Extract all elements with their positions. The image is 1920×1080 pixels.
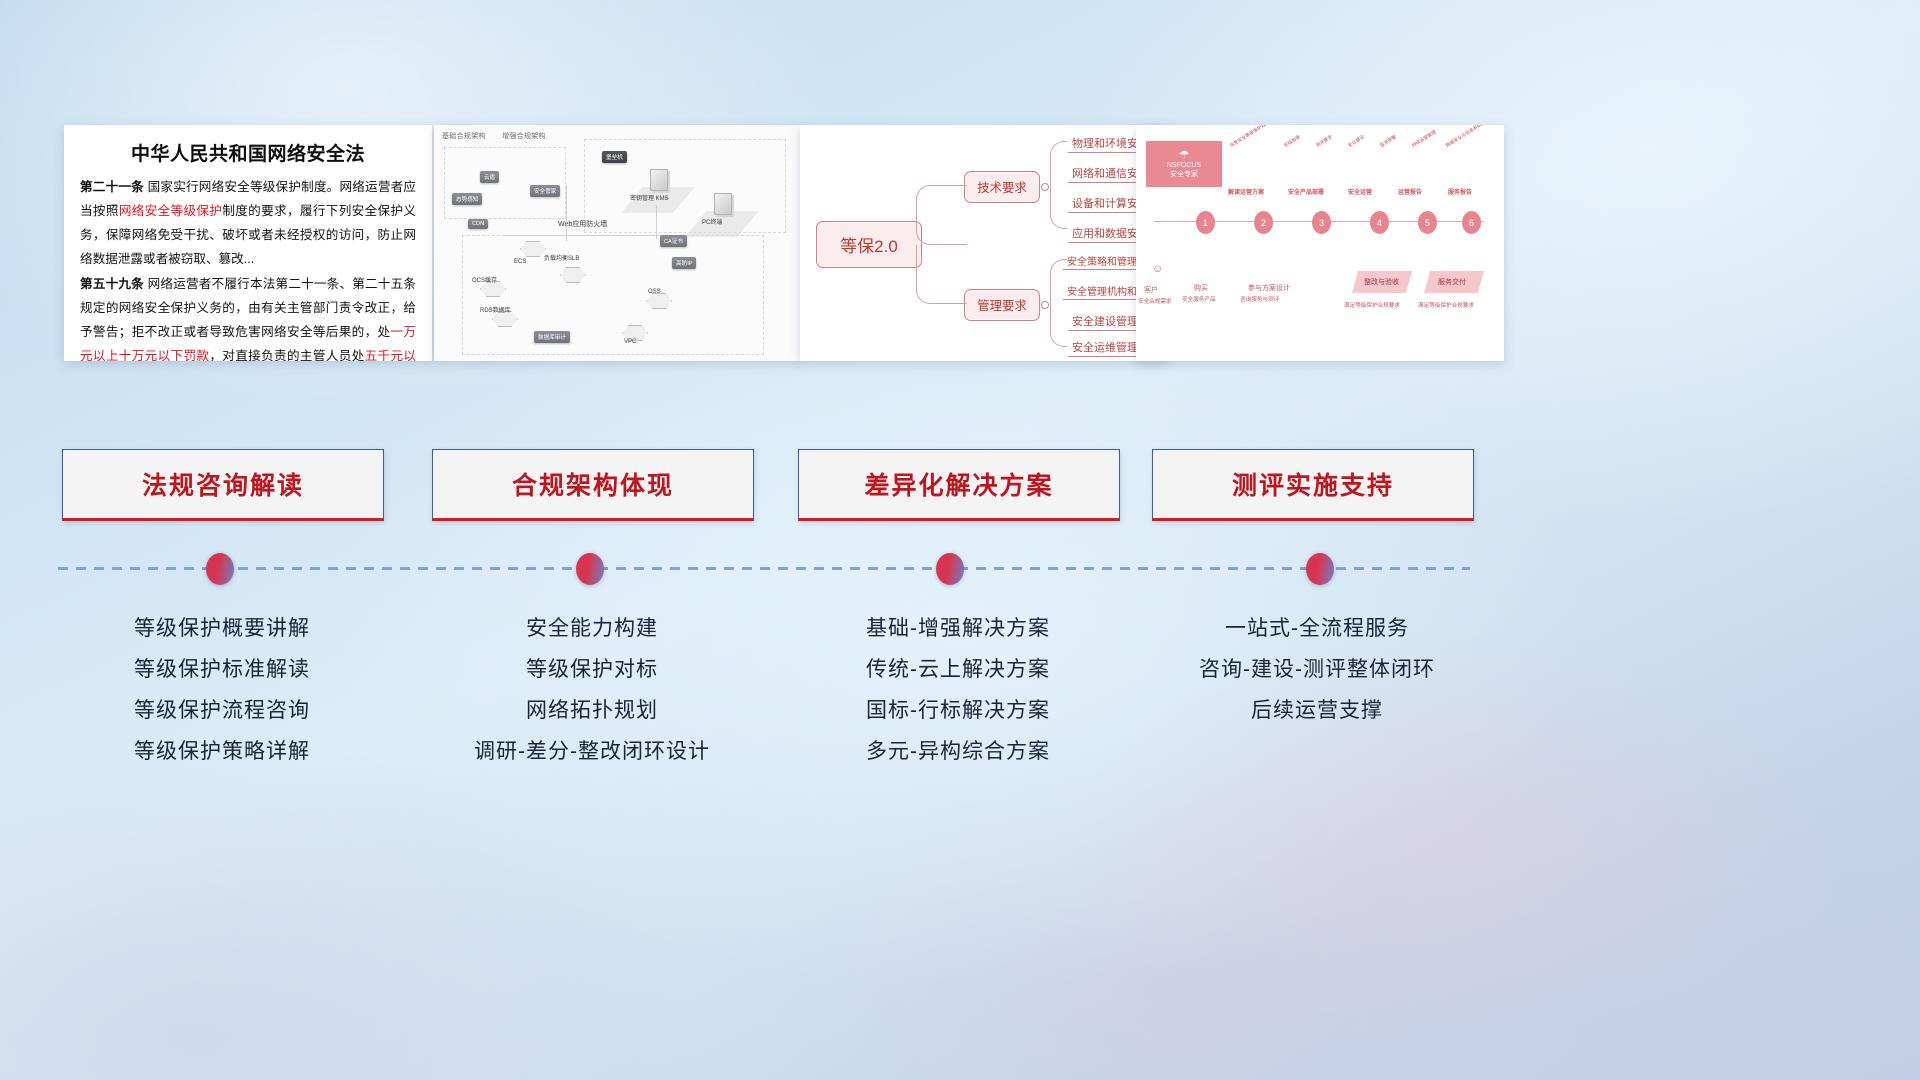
architecture-tabs: 基础合规架构 增强合规架构 xyxy=(442,131,560,141)
banner-evaluation-support[interactable]: 测评实施支持 xyxy=(1152,449,1474,521)
mindmap-collapse-dot-management[interactable] xyxy=(1041,301,1049,309)
law-article-21: 第二十一条 国家实行网络安全等级保护制度。网络运营者应当按照网络安全等级保护制度… xyxy=(80,175,416,271)
timeline-dot-3[interactable] xyxy=(936,553,964,585)
roadmap-bottom-sub-1: 咨询服务与测评 xyxy=(1240,295,1279,303)
arch-node-bastion: 堡垒机 xyxy=(602,151,627,163)
law-excerpt-card[interactable]: 中华人民共和国网络安全法 第二十一条 国家实行网络安全等级保护制度。网络运营者应… xyxy=(64,125,432,361)
list-item: 等级保护标准解读 xyxy=(62,649,382,690)
mindmap: 等保2.0 技术要求 管理要求 物理和环境安全 网络和通信安全 设备和计算安全 … xyxy=(800,125,1168,361)
list-item: 基础-增强解决方案 xyxy=(798,608,1118,649)
roadmap-step-1: 安全产品部署 xyxy=(1288,187,1324,196)
arch-node-cdn: CDN xyxy=(468,219,488,229)
timeline-dashed-line xyxy=(58,567,1470,570)
arch-node-situation: 安全管家 xyxy=(530,185,560,197)
roadmap-number-3: 3 xyxy=(1312,211,1331,234)
mindmap-leaf-ops: 安全运维管理 xyxy=(1068,339,1142,357)
article-59-label: 第五十九条 xyxy=(80,277,144,291)
customer-icon: ☺ xyxy=(1152,263,1163,275)
roadmap-tag-2: 测评要求 xyxy=(1315,134,1334,149)
list-item: 等级保护流程咨询 xyxy=(62,690,382,731)
list-item: 等级保护概要讲解 xyxy=(62,608,382,649)
list-item: 一站式-全流程服务 xyxy=(1152,608,1482,649)
mindmap-collapse-dot-technical[interactable] xyxy=(1041,183,1049,191)
arch-node-gaofangip: 高防IP xyxy=(672,257,696,269)
arch-node-yundun: 云盾 xyxy=(480,171,499,183)
arch-tab-basic[interactable]: 基础合规架构 xyxy=(442,133,486,140)
roadmap-bottom-right-sub-0: 满足等级保护合规要求 xyxy=(1344,301,1400,309)
arch-node-anquanguanjia: 态势感知 xyxy=(452,193,482,205)
roadmap-bottom-right-sub-1: 满足等级保护合规要求 xyxy=(1418,301,1474,309)
roadmap-number-5: 5 xyxy=(1418,211,1437,234)
list-item: 后续运营支撑 xyxy=(1152,690,1482,731)
brand-name: NSFOCUS xyxy=(1167,161,1201,170)
list-item: 咨询-建设-测评整体闭环 xyxy=(1152,649,1482,690)
roadmap-step-3: 运营报告 xyxy=(1398,187,1422,196)
roadmap-tag-0: 信息安全等级保护政策法规 xyxy=(1229,125,1279,149)
arch-label-rds: RDS数据库 xyxy=(480,305,511,314)
nsfocus-brand-badge: ☂ NSFOCUS 安全专家 xyxy=(1146,141,1222,187)
arch-label-ocs: OCS缓存 xyxy=(472,275,497,284)
roadmap-bottom-right-item-0: 整改与验收 xyxy=(1364,277,1399,287)
arch-label-slb: 负载均衡SLB xyxy=(544,253,579,262)
arch-label-pc: PC终端 xyxy=(702,217,722,226)
cloud-architecture-card[interactable]: 基础合规架构 增强合规架构 云盾 态势感知 安全管家 堡垒机 密钥管理 KMS … xyxy=(434,125,802,361)
arch-label-vpc: VPC xyxy=(624,339,636,345)
feature-list-column-3: 基础-增强解决方案 传统-云上解决方案 国标-行标解决方案 多元-异构综合方案 xyxy=(798,608,1118,772)
banner-differentiated-solution[interactable]: 差异化解决方案 xyxy=(798,449,1120,521)
nsfocus-roadmap-card[interactable]: ☂ NSFOCUS 安全专家 信息安全等级保护政策法规 定级指南 测评要求 安全… xyxy=(1136,125,1504,361)
mindmap-leaf-construction: 安全建设管理 xyxy=(1068,313,1142,331)
banner-title-2: 差异化解决方案 xyxy=(864,466,1053,502)
arch-label-oss: OSS xyxy=(648,289,661,295)
slide-background: 中华人民共和国网络安全法 第二十一条 国家实行网络安全等级保护制度。网络运营者应… xyxy=(0,0,1920,1080)
roadmap-step-0: 解读运营方案 xyxy=(1228,187,1264,196)
list-item: 等级保护策略详解 xyxy=(62,731,382,772)
brand-subtitle: 安全专家 xyxy=(1170,170,1198,179)
arch-node-db-audit: 数据库审计 xyxy=(534,331,570,343)
list-item: 网络拓扑规划 xyxy=(432,690,752,731)
card-row: 中华人民共和国网络安全法 第二十一条 国家实行网络安全等级保护制度。网络运营者应… xyxy=(0,125,1920,363)
mindmap-root-node: 等保2.0 xyxy=(816,221,922,268)
roadmap-tag-1: 定级指南 xyxy=(1283,134,1302,149)
timeline-dot-2[interactable] xyxy=(576,553,604,585)
brand-icon: ☂ xyxy=(1179,149,1190,161)
roadmap-tag-3: 安全建设 xyxy=(1347,134,1366,149)
law-text-body: 中华人民共和国网络安全法 第二十一条 国家实行网络安全等级保护制度。网络运营者应… xyxy=(64,125,432,361)
arch-tab-enhanced[interactable]: 增强合规架构 xyxy=(502,133,546,140)
article-59-text-b: ，对直接负责的主管人员处 xyxy=(209,349,364,361)
banner-compliance-architecture[interactable]: 合规架构体现 xyxy=(432,449,754,521)
roadmap-diagram: ☂ NSFOCUS 安全专家 信息安全等级保护政策法规 定级指南 测评要求 安全… xyxy=(1136,125,1504,361)
dengbao-mindmap-card[interactable]: 等保2.0 技术要求 管理要求 物理和环境安全 网络和通信安全 设备和计算安全 … xyxy=(800,125,1168,361)
mindmap-branch-management: 管理要求 xyxy=(964,289,1040,321)
roadmap-number-2: 2 xyxy=(1254,211,1273,234)
roadmap-bottom-item-0: 购买 xyxy=(1194,283,1208,293)
arch-label-ecs: ECS xyxy=(514,259,526,265)
banner-title-3: 测评实施支持 xyxy=(1232,466,1394,502)
timeline-dot-1[interactable] xyxy=(206,553,234,585)
roadmap-tag-5: 持续运营管理 xyxy=(1411,129,1438,149)
customer-sub: 安全合规需求 xyxy=(1138,297,1172,305)
roadmap-bottom-right-item-1: 服务交付 xyxy=(1438,277,1466,287)
architecture-diagram: 基础合规架构 增强合规架构 云盾 态势感知 安全管家 堡垒机 密钥管理 KMS … xyxy=(434,125,802,361)
list-item: 安全能力构建 xyxy=(432,608,752,649)
feature-list-column-2: 安全能力构建 等级保护对标 网络拓扑规划 调研-差分-整改闭环设计 xyxy=(432,608,752,772)
banner-title-1: 合规架构体现 xyxy=(512,466,674,502)
roadmap-number-1: 1 xyxy=(1196,211,1215,234)
feature-list-column-4: 一站式-全流程服务 咨询-建设-测评整体闭环 后续运营支撑 xyxy=(1152,608,1482,731)
roadmap-step-2: 安全运营 xyxy=(1348,187,1372,196)
arch-label-kms: 密钥管理 KMS xyxy=(630,193,669,202)
feature-list-column-1: 等级保护概要讲解 等级保护标准解读 等级保护流程咨询 等级保护策略详解 xyxy=(62,608,382,772)
list-item: 传统-云上解决方案 xyxy=(798,649,1118,690)
law-title: 中华人民共和国网络安全法 xyxy=(80,139,416,166)
banner-title-0: 法规咨询解读 xyxy=(142,466,304,502)
roadmap-bottom-sub-0: 安全服务产品 xyxy=(1182,295,1216,303)
article-21-label: 第二十一条 xyxy=(80,180,144,194)
roadmap-number-4: 4 xyxy=(1370,211,1389,234)
list-item: 国标-行标解决方案 xyxy=(798,690,1118,731)
article-21-red-phrase: 网络安全等级保护 xyxy=(119,204,223,218)
timeline-dot-4[interactable] xyxy=(1306,553,1334,585)
arch-node-ca: CA证书 xyxy=(660,235,687,247)
roadmap-step-4: 服务报告 xyxy=(1448,187,1472,196)
roadmap-tag-4: 监测预警 xyxy=(1379,134,1398,149)
list-item: 调研-差分-整改闭环设计 xyxy=(432,731,752,772)
banner-regulation-consulting[interactable]: 法规咨询解读 xyxy=(62,449,384,521)
roadmap-bottom-item-1: 参与方案设计 xyxy=(1248,283,1290,293)
customer-label: 客户 xyxy=(1144,285,1158,295)
law-article-59: 第五十九条 网络运营者不履行本法第二十一条、第二十五条规定的网络安全保护义务的，… xyxy=(80,272,416,361)
list-item: 多元-异构综合方案 xyxy=(798,731,1118,772)
list-item: 等级保护对标 xyxy=(432,649,752,690)
roadmap-number-6: 6 xyxy=(1462,211,1481,234)
mindmap-branch-technical: 技术要求 xyxy=(964,171,1040,203)
roadmap-tag-6: 数据安全与信息系统安全规范 xyxy=(1445,125,1499,149)
